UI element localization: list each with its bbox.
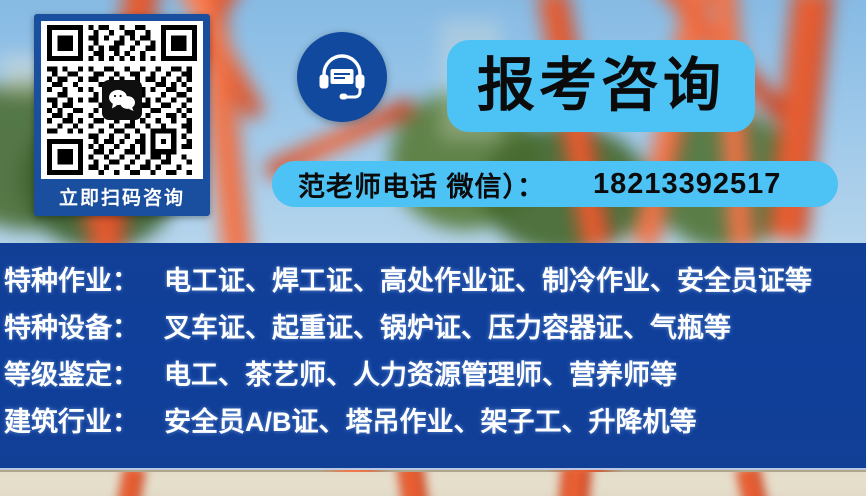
service-items-label: 电工、茶艺师、人力资源管理师、营养师等 [164, 353, 677, 392]
service-items-label: 电工证、焊工证、高处作业证、制冷作业、安全员证等 [164, 259, 812, 298]
title-badge: 报考咨询 [447, 40, 755, 132]
qr-code-image[interactable] [41, 21, 203, 179]
service-row-grade-certification: 等级鉴定： 电工、茶艺师、人力资源管理师、营养师等 [4, 353, 866, 400]
contact-phone-number[interactable]: 18213392517 [593, 168, 781, 201]
wechat-icon [102, 80, 142, 120]
service-items-label: 叉车证、起重证、锅炉证、压力容器证、气瓶等 [164, 306, 731, 345]
page-title: 报考咨询 [477, 57, 725, 115]
qr-card-caption: 立即扫码咨询 [41, 179, 203, 219]
service-category-label: 等级鉴定： [4, 353, 152, 392]
headset-support-icon [297, 32, 387, 122]
service-category-label: 特种设备： [4, 306, 152, 345]
service-category-label: 特种作业： [4, 259, 152, 298]
service-list-panel: 特种作业： 电工证、焊工证、高处作业证、制冷作业、安全员证等 特种设备： 叉车证… [0, 243, 866, 470]
service-category-label: 建筑行业： [4, 400, 152, 439]
qr-code-card[interactable]: 立即扫码咨询 [34, 14, 210, 216]
bottom-photo-strip [0, 472, 866, 496]
contact-label: 范老师电话 微信）： [298, 165, 545, 204]
contact-badge[interactable]: 范老师电话 微信）： 18213392517 [272, 161, 838, 207]
service-row-special-equipment: 特种设备： 叉车证、起重证、锅炉证、压力容器证、气瓶等 [4, 306, 866, 353]
promo-poster: 立即扫码咨询 报考咨询 范老师电话 微信）： 18213392517 特种作业：… [0, 0, 866, 496]
service-row-special-operations: 特种作业： 电工证、焊工证、高处作业证、制冷作业、安全员证等 [4, 259, 866, 306]
service-row-construction-industry: 建筑行业： 安全员A/B证、塔吊作业、架子工、升降机等 [4, 400, 866, 447]
service-items-label: 安全员A/B证、塔吊作业、架子工、升降机等 [164, 400, 697, 439]
